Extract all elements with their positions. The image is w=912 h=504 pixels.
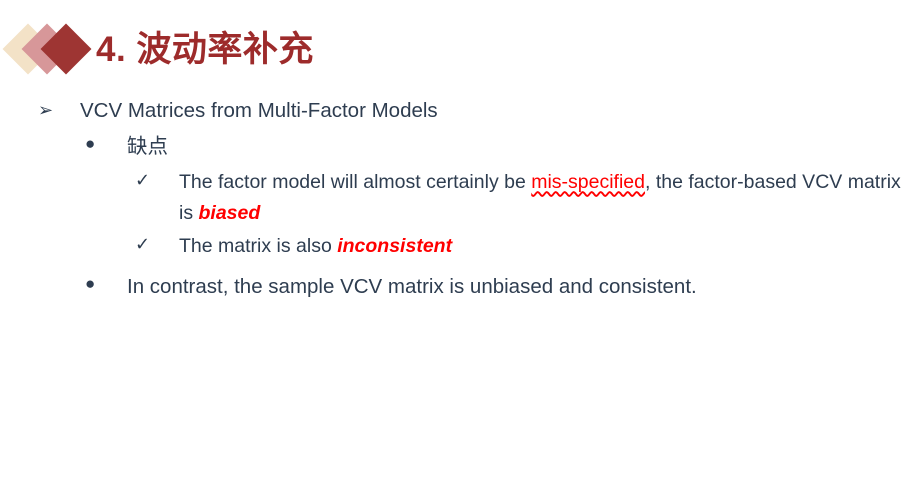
sentence-part-1: The factor model will almost certainly b… [179,171,531,193]
bullet-item-level2-contrast: ● In contrast, the sample VCV matrix is … [38,272,912,302]
arrowhead-bullet-icon: ➢ [38,96,80,123]
emphasis-biased: biased [199,202,261,224]
bullet-item-level1: ➢ VCV Matrices from Multi-Factor Models [38,96,912,126]
emphasis-mis-specified: mis-specified [531,171,645,193]
check-bullet-icon: ✓ [38,167,179,193]
dot-bullet-icon: ● [38,272,127,297]
bullet-item-level3-inconsistent: ✓ The matrix is also inconsistent [38,231,912,262]
page-title: 4. 波动率补充 [96,32,314,67]
dot-bullet-icon: ● [38,132,127,157]
bullet-level2-label: In contrast, the sample VCV matrix is un… [127,272,912,302]
sentence-part-1: The matrix is also [179,235,337,257]
bullet-level2-label: 缺点 [127,132,912,162]
slide-title-row: 4. 波动率补充 [0,14,314,84]
diamond-decoration-icon [8,21,90,77]
bullet-level1-label: VCV Matrices from Multi-Factor Models [80,96,912,126]
slide-body: ➢ VCV Matrices from Multi-Factor Models … [0,96,912,308]
emphasis-inconsistent: inconsistent [337,235,452,257]
bullet-item-level3-mis-specified: ✓ The factor model will almost certainly… [38,167,912,229]
check-bullet-icon: ✓ [38,231,179,257]
bullet-item-level2-disadvantages: ● 缺点 [38,132,912,162]
bullet-level3-sentence: The matrix is also inconsistent [179,231,912,262]
bullet-level3-sentence: The factor model will almost certainly b… [179,167,912,229]
